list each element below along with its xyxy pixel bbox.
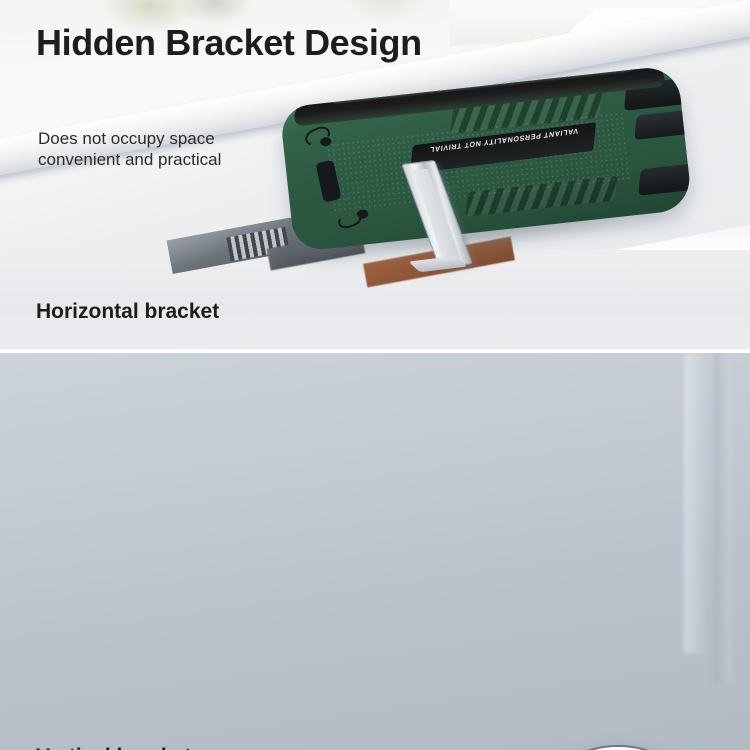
page-subtitle: Does not occupy space convenient and pra… [38, 128, 368, 171]
port-cutout-icon [357, 209, 369, 219]
page-title: Hidden Bracket Design [36, 22, 436, 63]
panel-vertical-bracket: Vertical bracket 90° [0, 353, 750, 750]
background-wall-seam [714, 353, 732, 683]
label-vertical-bracket: Vertical bracket [36, 745, 191, 750]
subtitle-line-2: convenient and practical [38, 150, 221, 169]
panel-horizontal-bracket: VALIANT PERSONALITY NOT TRIVIAL Hidden B… [0, 0, 750, 349]
magnified-detail-inset: 90° [520, 745, 716, 750]
product-infographic: VALIANT PERSONALITY NOT TRIVIAL Hidden B… [0, 0, 750, 750]
background-wall-seam [684, 353, 706, 653]
phone-case-black-insert [638, 155, 693, 195]
subtitle-line-1: Does not occupy space [38, 129, 215, 148]
label-horizontal-bracket: Horizontal bracket [36, 300, 219, 324]
